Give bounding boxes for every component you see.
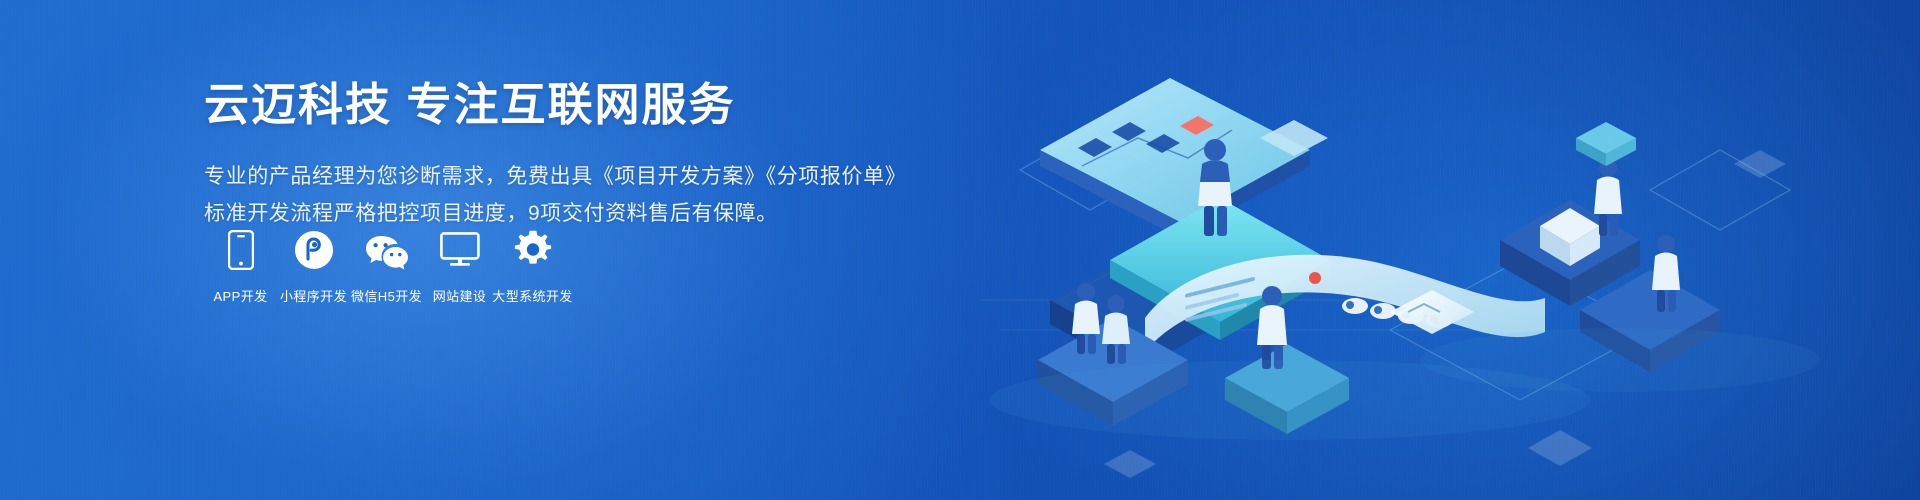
wechat-icon <box>364 228 410 272</box>
banner-subtitle: 专业的产品经理为您诊断需求，免费出具《项目开发方案》《分项报价单》 标准开发流程… <box>204 158 924 233</box>
mobile-phone-icon <box>228 228 254 272</box>
subtitle-line-1: 专业的产品经理为您诊断需求，免费出具《项目开发方案》《分项报价单》 <box>204 158 924 195</box>
service-item-mini-program[interactable]: 小程序开发 <box>277 228 350 305</box>
hero-banner: 云迈科技 专注互联网服务 专业的产品经理为您诊断需求，免费出具《项目开发方案》《… <box>0 0 1920 500</box>
mini-program-icon <box>294 228 334 272</box>
service-item-website[interactable]: 网站建设 <box>423 228 496 305</box>
service-label: 网站建设 <box>433 286 487 305</box>
service-item-large-system[interactable]: 大型系统开发 <box>496 228 569 305</box>
service-list: APP开发 小程序开发 <box>204 228 569 305</box>
monitor-icon <box>440 228 480 272</box>
service-item-wechat-h5[interactable]: 微信H5开发 <box>350 228 423 305</box>
page-title: 云迈科技 专注互联网服务 <box>204 78 924 132</box>
service-item-app[interactable]: APP开发 <box>204 228 277 305</box>
service-label: 小程序开发 <box>280 286 347 305</box>
gear-icon <box>513 228 553 272</box>
service-label: 微信H5开发 <box>351 286 422 305</box>
service-label: 大型系统开发 <box>492 286 572 305</box>
service-label: APP开发 <box>213 286 267 305</box>
hero-illustration <box>960 0 1920 500</box>
banner-text-block: 云迈科技 专注互联网服务 专业的产品经理为您诊断需求，免费出具《项目开发方案》《… <box>204 78 924 233</box>
